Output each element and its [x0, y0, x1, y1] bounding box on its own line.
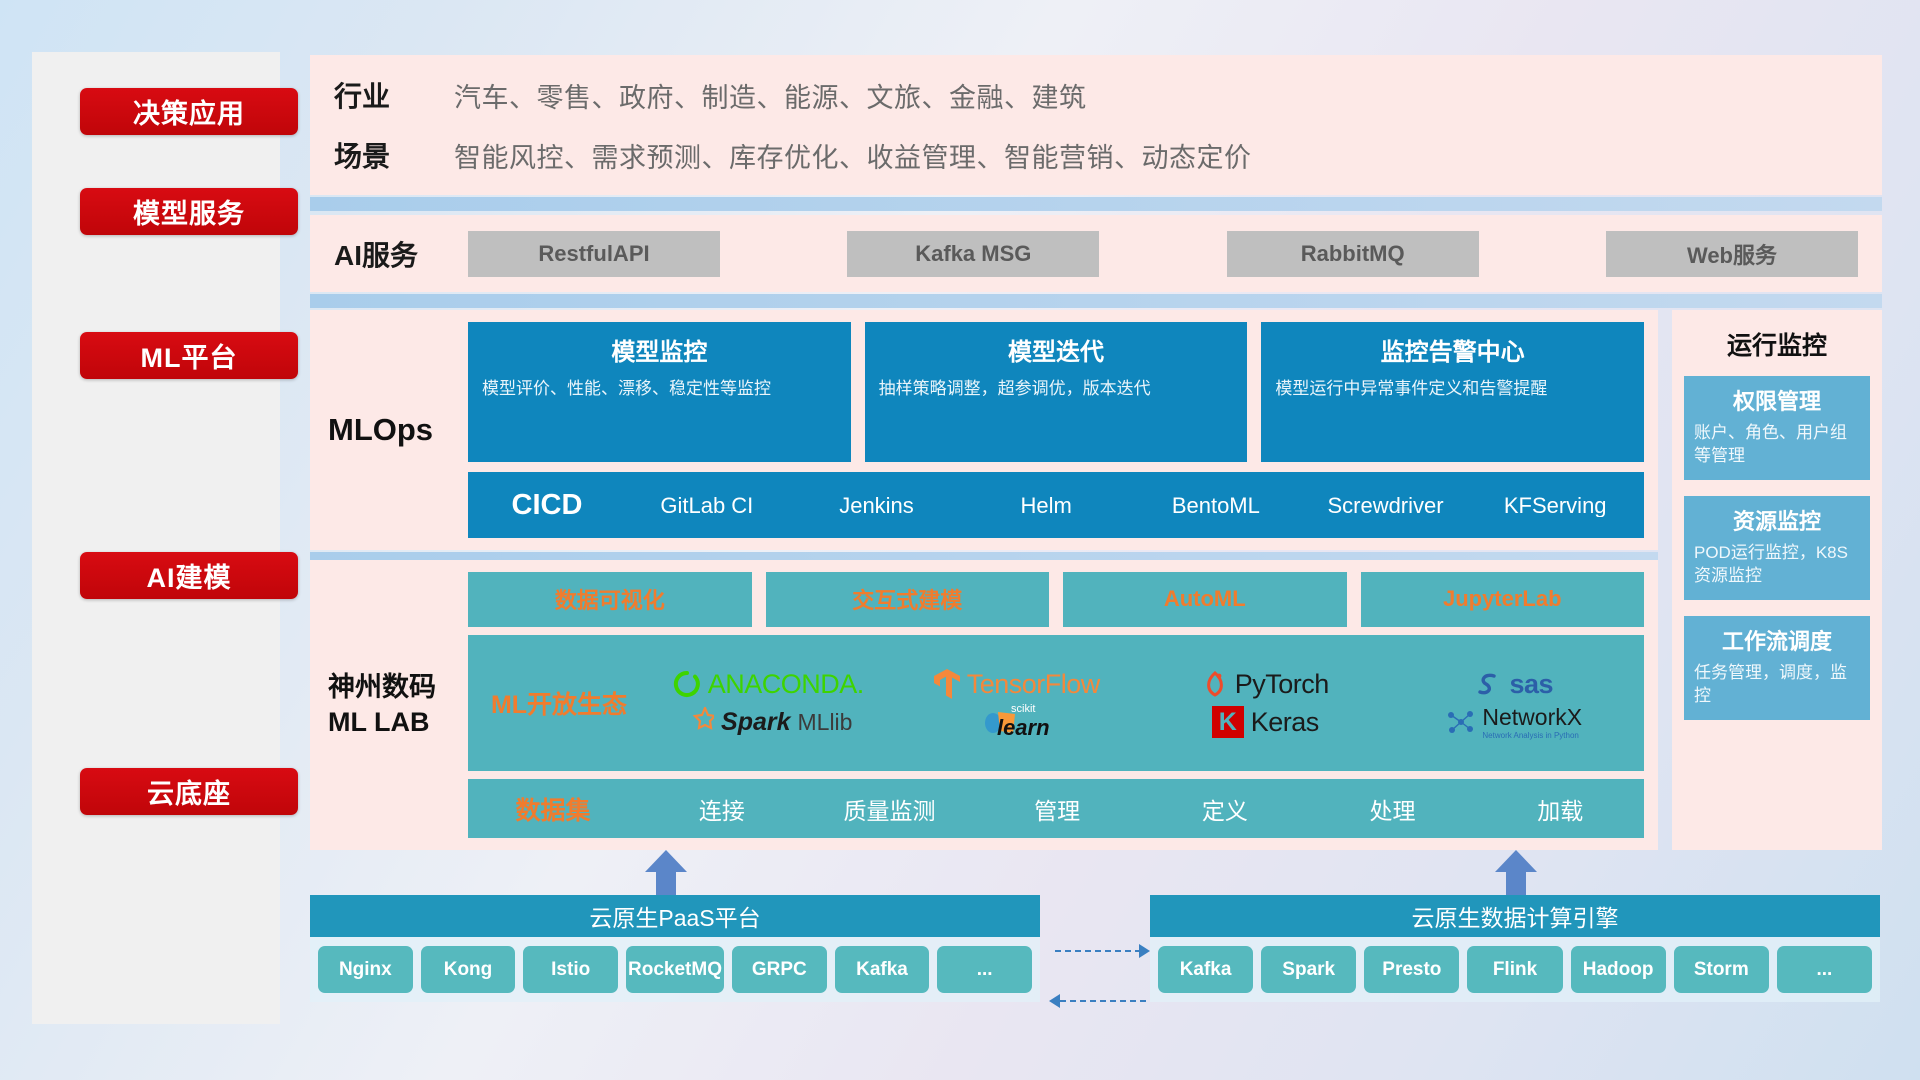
rail-badge-label: 决策应用 — [133, 92, 245, 131]
card-title: 监控告警中心 — [1275, 332, 1630, 367]
rail-badge-label: 模型服务 — [133, 192, 245, 231]
networkx-wordmark: NetworkX — [1482, 704, 1582, 731]
rail-badge-decision[interactable]: 决策应用 — [80, 88, 298, 135]
engine-chip-storm[interactable]: Storm — [1674, 946, 1769, 993]
dataset-cell-quality[interactable]: 质量监测 — [806, 792, 974, 826]
scenario-row: 场景 智能风控、需求预测、库存优化、收益管理、智能营销、动态定价 — [334, 135, 1882, 175]
dataset-row: 数据集 连接 质量监测 管理 定义 处理 加载 — [468, 779, 1644, 838]
engine-chip-kafka[interactable]: Kafka — [1158, 946, 1253, 993]
industry-row: 行业 汽车、零售、政府、制造、能源、文旅、金融、建筑 — [334, 75, 1882, 115]
mlops-card-model-monitoring[interactable]: 模型监控 模型评价、性能、漂移、稳定性等监控 — [468, 322, 851, 462]
mllib-wordmark: MLlib — [798, 709, 853, 736]
paas-chip-grpc[interactable]: GRPC — [732, 946, 827, 993]
industry-values: 汽车、零售、政府、制造、能源、文旅、金融、建筑 — [454, 76, 1087, 115]
monitor-card-permission[interactable]: 权限管理 账户、角色、用户组等管理 — [1684, 376, 1870, 480]
ml-ecosystem-label: ML开放生态 — [474, 685, 644, 721]
rail-badge-label: 云底座 — [147, 772, 231, 811]
cicd-item-jenkins[interactable]: Jenkins — [792, 494, 962, 517]
cicd-title: CICD — [472, 489, 622, 522]
pytorch-logo: PyTorch — [1202, 669, 1329, 700]
ai-service-chip-restfulapi[interactable]: RestfulAPI — [468, 231, 720, 277]
ai-service-chip-kafka-msg[interactable]: Kafka MSG — [847, 231, 1099, 277]
tensorflow-icon — [934, 669, 960, 699]
paas-platform-title: 云原生PaaS平台 — [310, 895, 1040, 937]
dataset-label: 数据集 — [468, 791, 638, 827]
mlops-card-alert-center[interactable]: 监控告警中心 模型运行中异常事件定义和告警提醒 — [1261, 322, 1644, 462]
spark-wordmark: Spark — [721, 708, 790, 737]
cicd-item-gitlab-ci[interactable]: GitLab CI — [622, 494, 792, 517]
card-desc: 模型评价、性能、漂移、稳定性等监控 — [482, 377, 837, 402]
rail-badge-label: ML平台 — [141, 336, 238, 375]
tool-chip-automl[interactable]: AutoML — [1063, 572, 1347, 627]
rail-badge-model-service[interactable]: 模型服务 — [80, 188, 298, 235]
cicd-item-helm[interactable]: Helm — [961, 494, 1131, 517]
card-title: 权限管理 — [1694, 384, 1860, 416]
keras-wordmark: Keras — [1251, 707, 1319, 738]
tool-chip-data-visualization[interactable]: 数据可视化 — [468, 572, 752, 627]
engine-chip-hadoop[interactable]: Hadoop — [1571, 946, 1666, 993]
rail-badge-cloud-base[interactable]: 云底座 — [80, 768, 298, 815]
cicd-item-bentoml[interactable]: BentoML — [1131, 494, 1301, 517]
dataset-cell-manage[interactable]: 管理 — [973, 792, 1141, 826]
dataset-cell-connect[interactable]: 连接 — [638, 792, 806, 826]
scenario-values: 智能风控、需求预测、库存优化、收益管理、智能营销、动态定价 — [454, 136, 1252, 175]
mlops-card-model-iteration[interactable]: 模型迭代 抽样策略调整，超参调优，版本迭代 — [865, 322, 1248, 462]
card-title: 资源监控 — [1694, 504, 1860, 536]
connector-left-line — [1060, 1000, 1146, 1002]
card-desc: 任务管理，调度，监控 — [1694, 662, 1860, 708]
mlops-label: MLOps — [328, 322, 468, 538]
mlops-band: MLOps 模型监控 模型评价、性能、漂移、稳定性等监控 模型迭代 抽样策略调整… — [310, 310, 1658, 550]
connector-right-arrow — [1139, 944, 1150, 958]
ml-ecosystem-row: ML开放生态 ANACONDA. — [468, 635, 1644, 772]
band-separator — [310, 552, 1658, 560]
monitor-card-workflow[interactable]: 工作流调度 任务管理，调度，监控 — [1684, 616, 1870, 720]
networkx-tagline: Network Analysis in Python — [1482, 731, 1582, 740]
arrow-up-data-engine — [1495, 850, 1537, 896]
paas-chip-nginx[interactable]: Nginx — [318, 946, 413, 993]
networkx-logo: NetworkX Network Analysis in Python — [1445, 704, 1582, 740]
sas-logo: sas — [1474, 669, 1553, 700]
data-engine-platform: 云原生数据计算引擎 Kafka Spark Presto Flink Hadoo… — [1150, 895, 1880, 1002]
band-separator — [310, 294, 1882, 308]
ml-lab-label-line2: ML LAB — [328, 705, 436, 740]
anaconda-icon — [673, 670, 701, 698]
spark-icon — [684, 707, 714, 737]
tensorflow-wordmark: TensorFlow — [967, 669, 1100, 700]
diagram-canvas: 决策应用 模型服务 ML平台 AI建模 云底座 行业 汽车、零售、政府、制造、能… — [0, 0, 1920, 1080]
left-rail: 决策应用 模型服务 ML平台 AI建模 云底座 — [32, 52, 280, 1024]
card-desc: 模型运行中异常事件定义和告警提醒 — [1275, 377, 1630, 402]
connector-left-arrow — [1049, 994, 1060, 1008]
pytorch-icon — [1202, 669, 1228, 699]
card-title: 模型监控 — [482, 332, 837, 367]
scikit-word: scikit — [997, 703, 1050, 715]
dataset-cell-load[interactable]: 加载 — [1476, 792, 1644, 826]
card-title: 模型迭代 — [879, 332, 1234, 367]
sas-wordmark: sas — [1509, 669, 1553, 700]
applications-band: 行业 汽车、零售、政府、制造、能源、文旅、金融、建筑 场景 智能风控、需求预测、… — [310, 55, 1882, 195]
rail-badge-ml-platform[interactable]: ML平台 — [80, 332, 298, 379]
card-title: 工作流调度 — [1694, 624, 1860, 656]
tool-chip-jupyterlab[interactable]: JupyterLab — [1361, 572, 1645, 627]
rail-badge-label: AI建模 — [147, 556, 232, 595]
paas-chip-kong[interactable]: Kong — [421, 946, 516, 993]
engine-chip-flink[interactable]: Flink — [1467, 946, 1562, 993]
paas-chip-more[interactable]: ... — [937, 946, 1032, 993]
sas-icon — [1474, 670, 1502, 698]
spark-mllib-logo: Spark MLlib — [684, 707, 852, 737]
cicd-item-screwdriver[interactable]: Screwdriver — [1301, 494, 1471, 517]
ai-service-label: AI服务 — [334, 234, 454, 274]
ml-lab-label: 神州数码 ML LAB — [328, 572, 468, 838]
dataset-cell-define[interactable]: 定义 — [1141, 792, 1309, 826]
runtime-monitor-panel: 运行监控 权限管理 账户、角色、用户组等管理 资源监控 POD运行监控，K8S资… — [1672, 310, 1882, 850]
pytorch-wordmark: PyTorch — [1235, 669, 1329, 700]
ai-modeling-band: 神州数码 ML LAB 数据可视化 交互式建模 AutoML JupyterLa… — [310, 560, 1658, 850]
keras-mark: K — [1212, 706, 1244, 738]
keras-logo: K Keras — [1212, 706, 1319, 738]
card-desc: POD运行监控，K8S资源监控 — [1694, 542, 1860, 588]
ml-lab-label-line1: 神州数码 — [328, 670, 436, 705]
paas-chip-istio[interactable]: Istio — [523, 946, 618, 993]
cicd-bar: CICD GitLab CI Jenkins Helm BentoML Scre… — [468, 472, 1644, 538]
tensorflow-logo: TensorFlow — [934, 669, 1100, 700]
engine-chip-presto[interactable]: Presto — [1364, 946, 1459, 993]
monitor-card-resource[interactable]: 资源监控 POD运行监控，K8S资源监控 — [1684, 496, 1870, 600]
ai-service-band: AI服务 RestfulAPI Kafka MSG RabbitMQ Web服务 — [310, 215, 1882, 292]
industry-label: 行业 — [334, 75, 454, 115]
paas-chip-kafka[interactable]: Kafka — [835, 946, 930, 993]
anaconda-wordmark: ANACONDA. — [708, 669, 864, 700]
anaconda-logo: ANACONDA. — [673, 669, 864, 700]
cicd-item-kfserving[interactable]: KFServing — [1470, 494, 1640, 517]
scenario-label: 场景 — [334, 135, 454, 175]
engine-chip-spark[interactable]: Spark — [1261, 946, 1356, 993]
engine-chip-more[interactable]: ... — [1777, 946, 1872, 993]
paas-platform: 云原生PaaS平台 Nginx Kong Istio RocketMQ GRPC… — [310, 895, 1040, 1002]
data-engine-title: 云原生数据计算引擎 — [1150, 895, 1880, 937]
tool-chip-interactive-modeling[interactable]: 交互式建模 — [766, 572, 1050, 627]
card-desc: 抽样策略调整，超参调优，版本迭代 — [879, 377, 1234, 402]
networkx-icon — [1445, 707, 1475, 737]
connector-right-line — [1055, 950, 1141, 952]
ai-service-chip-rabbitmq[interactable]: RabbitMQ — [1227, 231, 1479, 277]
arrow-up-paas — [645, 850, 687, 896]
runtime-monitor-title: 运行监控 — [1684, 326, 1870, 362]
band-separator — [310, 197, 1882, 211]
ai-service-chip-web-service[interactable]: Web服务 — [1606, 231, 1858, 277]
scikit-learn-logo: scikit learn — [984, 703, 1050, 741]
paas-chip-rocketmq[interactable]: RocketMQ — [626, 946, 724, 993]
card-desc: 账户、角色、用户组等管理 — [1694, 422, 1860, 468]
learn-word: learn — [997, 715, 1050, 741]
dataset-cell-process[interactable]: 处理 — [1309, 792, 1477, 826]
rail-badge-ai-modeling[interactable]: AI建模 — [80, 552, 298, 599]
